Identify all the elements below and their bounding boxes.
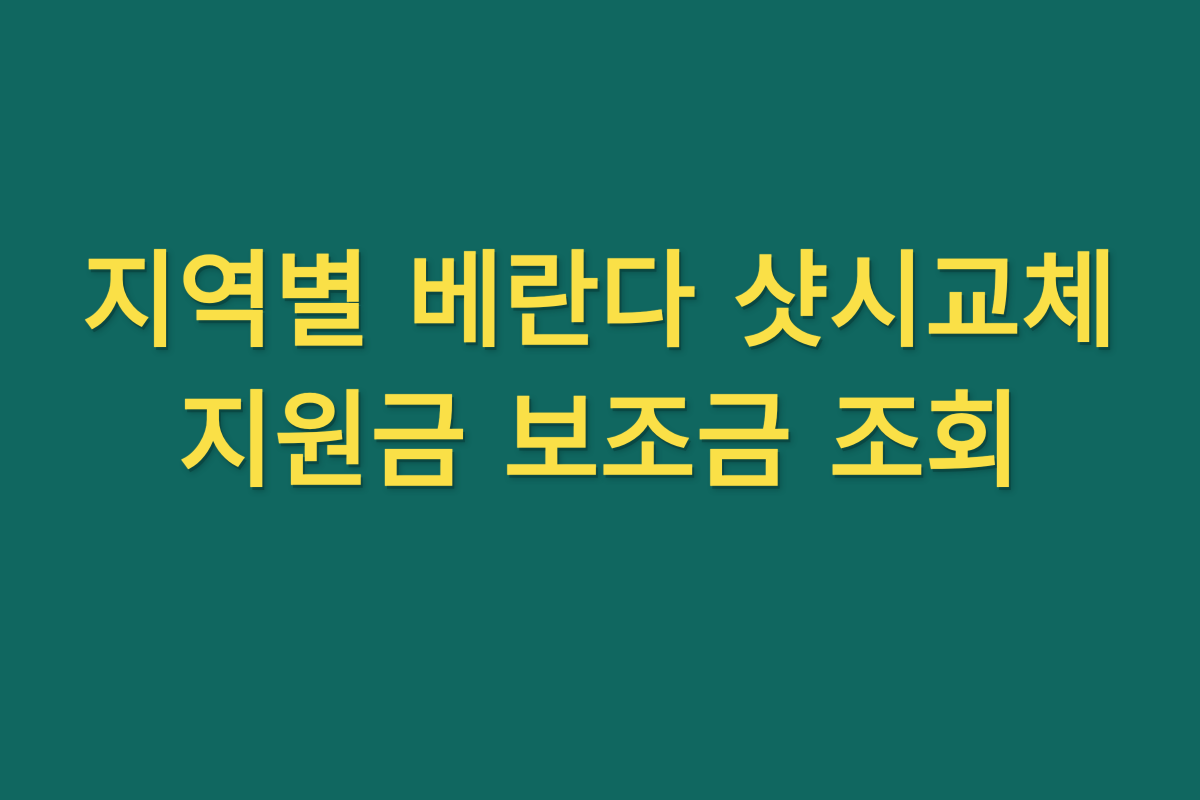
headline-block: 지역별 베란다 샷시교체 지원금 보조금 조회 — [0, 248, 1200, 494]
banner-canvas: 지역별 베란다 샷시교체 지원금 보조금 조회 — [0, 0, 1200, 800]
headline-line-1: 지역별 베란다 샷시교체 — [40, 248, 1160, 354]
headline-line-2: 지원금 보조금 조회 — [40, 388, 1160, 494]
